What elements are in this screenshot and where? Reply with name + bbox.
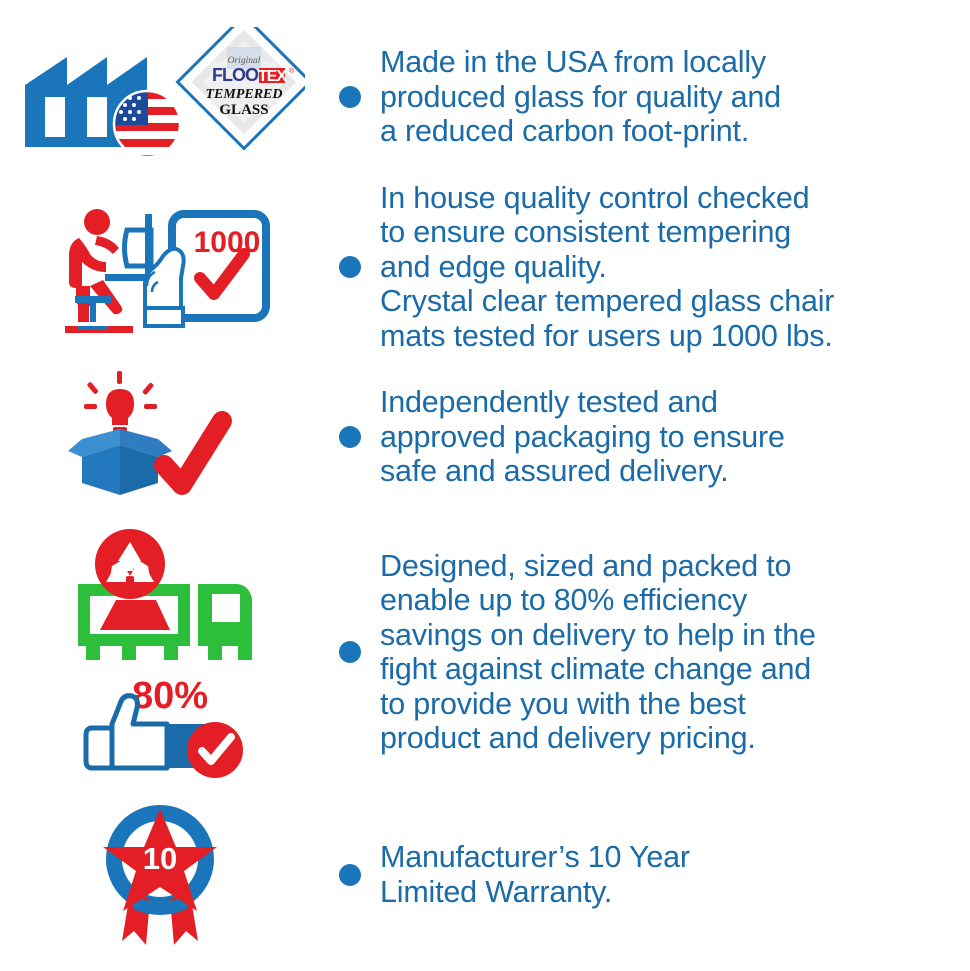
- feature-row-made-in-usa: Original FLOOR TEX ® TEMPERED GLASS Made…: [0, 22, 970, 172]
- infographic-page: Original FLOOR TEX ® TEMPERED GLASS Made…: [0, 0, 970, 971]
- logo-glass-text: GLASS: [219, 102, 268, 118]
- worker-at-desk-icon: [65, 209, 133, 333]
- feature-3-line-3: safe and assured delivery.: [380, 454, 952, 489]
- icon-cell-efficiency-savings: 80%: [0, 522, 320, 782]
- recycling-truck-icon: [60, 522, 260, 672]
- worker-clipboard-icon-group: 1000: [45, 200, 275, 335]
- feature-2-line-5: mats tested for users up 1000 lbs.: [380, 319, 952, 354]
- feature-4-line-3: savings on delivery to help in the: [380, 618, 952, 653]
- factory-usa-glass-icon-group: Original FLOOR TEX ® TEMPERED GLASS: [15, 27, 305, 167]
- red-checkmark-icon: [164, 421, 222, 485]
- thumbs-up-80-percent-icon: 80%: [70, 672, 250, 782]
- bullet-cell-5: [320, 864, 380, 886]
- feature-text-2: In house quality control checked to ensu…: [380, 181, 970, 354]
- bullet-cell-2: [320, 256, 380, 278]
- feature-row-warranty: 10 Manufacturer’s 10 Year Limited Warran…: [0, 792, 970, 957]
- feature-4-line-6: product and delivery pricing.: [380, 721, 952, 756]
- tempered-glass-diamond-logo: Original FLOOR TEX ® TEMPERED GLASS: [178, 27, 305, 148]
- feature-3-line-2: approved packaging to ensure: [380, 420, 952, 455]
- bullet-point-1: [339, 86, 361, 108]
- warranty-badge-value-text: 10: [143, 841, 177, 876]
- feature-4-line-4: fight against climate change and: [380, 652, 952, 687]
- usa-flag-icon: [114, 91, 180, 161]
- feature-row-quality-control: 1000 In house quality control checked to…: [0, 172, 970, 362]
- bullet-cell-4: [320, 641, 380, 663]
- feature-3-line-1: Independently tested and: [380, 385, 952, 420]
- feature-text-3: Independently tested and approved packag…: [380, 385, 970, 489]
- bullet-cell-1: [320, 86, 380, 108]
- icon-cell-quality-control: 1000: [0, 200, 320, 335]
- thumbs-up-value-text: 80%: [132, 675, 208, 717]
- clipboard-approval-icon: 1000: [172, 214, 266, 318]
- truck-thumbsup-icon-stack: 80%: [60, 522, 260, 782]
- clipboard-value-text: 1000: [194, 226, 261, 259]
- icon-cell-made-in-usa: Original FLOOR TEX ® TEMPERED GLASS: [0, 27, 320, 167]
- feature-5-line-2: Limited Warranty.: [380, 875, 952, 910]
- logo-tempered-text: TEMPERED: [205, 87, 282, 102]
- bullet-point-5: [339, 864, 361, 886]
- feature-2-line-2: to ensure consistent tempering: [380, 215, 952, 250]
- feature-2-line-1: In house quality control checked: [380, 181, 952, 216]
- feature-text-1: Made in the USA from locally produced gl…: [380, 45, 970, 149]
- feature-1-line-3: a reduced carbon foot-print.: [380, 114, 952, 149]
- feature-2-line-4: Crystal clear tempered glass chair: [380, 284, 952, 319]
- icon-cell-warranty: 10: [0, 797, 320, 952]
- recycle-symbol-icon: [95, 529, 165, 599]
- bullet-point-4: [339, 641, 361, 663]
- feature-4-line-1: Designed, sized and packed to: [380, 549, 952, 584]
- feature-text-4: Designed, sized and packed to enable up …: [380, 549, 970, 756]
- feature-4-line-2: enable up to 80% efficiency: [380, 583, 952, 618]
- circle-check-icon: [187, 722, 243, 778]
- feature-2-line-3: and edge quality.: [380, 250, 952, 285]
- feature-row-efficiency-savings: 80% Designed, sized and packed to en: [0, 512, 970, 792]
- icon-cell-tested-packaging: [0, 367, 320, 507]
- bullet-cell-3: [320, 426, 380, 448]
- logo-registered-mark: ®: [289, 67, 295, 75]
- lightbulb-box-check-icon-group: [60, 367, 260, 507]
- logo-tex-text: TEX: [258, 68, 287, 85]
- feature-row-tested-packaging: Independently tested and approved packag…: [0, 362, 970, 512]
- feature-text-5: Manufacturer’s 10 Year Limited Warranty.: [380, 840, 970, 909]
- feature-1-line-1: Made in the USA from locally: [380, 45, 952, 80]
- bullet-point-2: [339, 256, 361, 278]
- feature-5-line-1: Manufacturer’s 10 Year: [380, 840, 952, 875]
- feature-1-line-2: produced glass for quality and: [380, 80, 952, 115]
- feature-4-line-5: to provide you with the best: [380, 687, 952, 722]
- bullet-point-3: [339, 426, 361, 448]
- warranty-star-badge-icon: 10: [75, 797, 245, 952]
